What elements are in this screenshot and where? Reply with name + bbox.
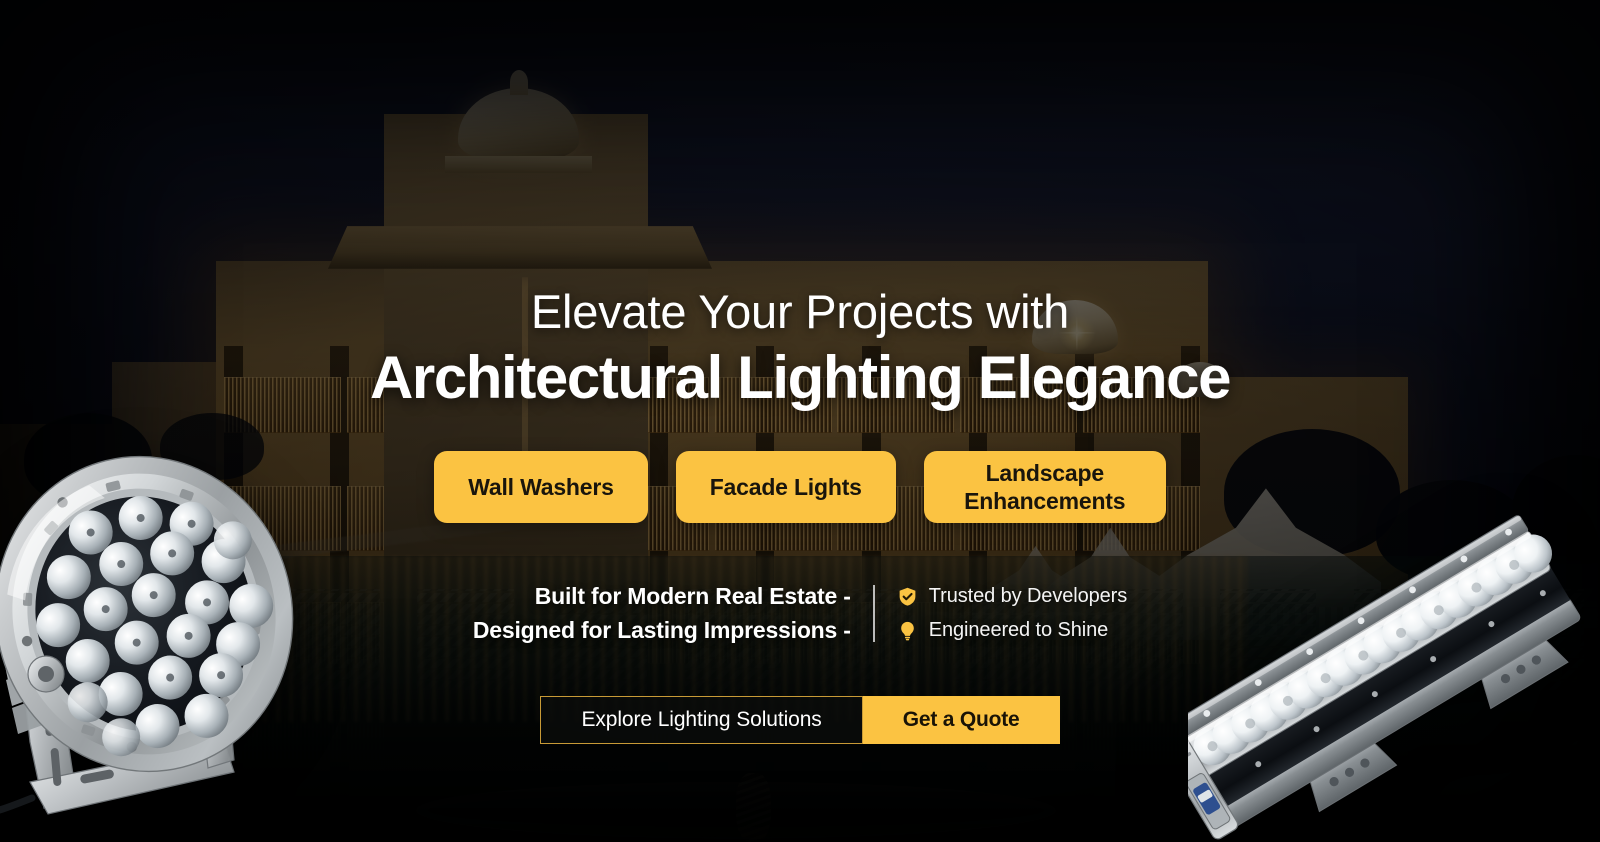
cta-button-group: Explore Lighting Solutions Get a Quote — [540, 696, 1059, 744]
pill-wall-washers[interactable]: Wall Washers — [434, 451, 647, 523]
value-proposition: Built for Modern Real Estate - Designed … — [473, 583, 1127, 644]
benefit-item-engineered: Engineered to Shine — [897, 619, 1127, 642]
tagline-line-2: Designed for Lasting Impressions - — [473, 617, 851, 645]
benefit-list: Trusted by Developers Engineered to Shin… — [875, 583, 1127, 644]
category-pill-group: Wall Washers Facade Lights Landscape Enh… — [434, 451, 1166, 523]
led-floodlight-product-image — [0, 442, 302, 842]
benefit-label: Trusted by Developers — [929, 585, 1127, 608]
page-title: Architectural Lighting Elegance — [370, 348, 1230, 408]
value-proposition-tagline: Built for Modern Real Estate - Designed … — [473, 583, 873, 644]
shield-check-icon — [897, 586, 918, 607]
hero-banner: Elevate Your Projects with Architectural… — [0, 0, 1600, 842]
tagline-line-1: Built for Modern Real Estate - — [473, 583, 851, 611]
led-wall-washer-product-image — [1188, 452, 1600, 842]
get-a-quote-button[interactable]: Get a Quote — [863, 696, 1060, 744]
hero-eyebrow: Elevate Your Projects with — [531, 288, 1069, 335]
floodlight-pivot-knob — [28, 656, 64, 692]
lightbulb-icon — [897, 620, 918, 641]
explore-lighting-solutions-button[interactable]: Explore Lighting Solutions — [540, 696, 862, 744]
benefit-label: Engineered to Shine — [929, 619, 1108, 642]
pill-facade-lights[interactable]: Facade Lights — [676, 451, 896, 523]
benefit-item-trusted: Trusted by Developers — [897, 585, 1127, 608]
pill-landscape-enhancements[interactable]: Landscape Enhancements — [924, 451, 1166, 523]
